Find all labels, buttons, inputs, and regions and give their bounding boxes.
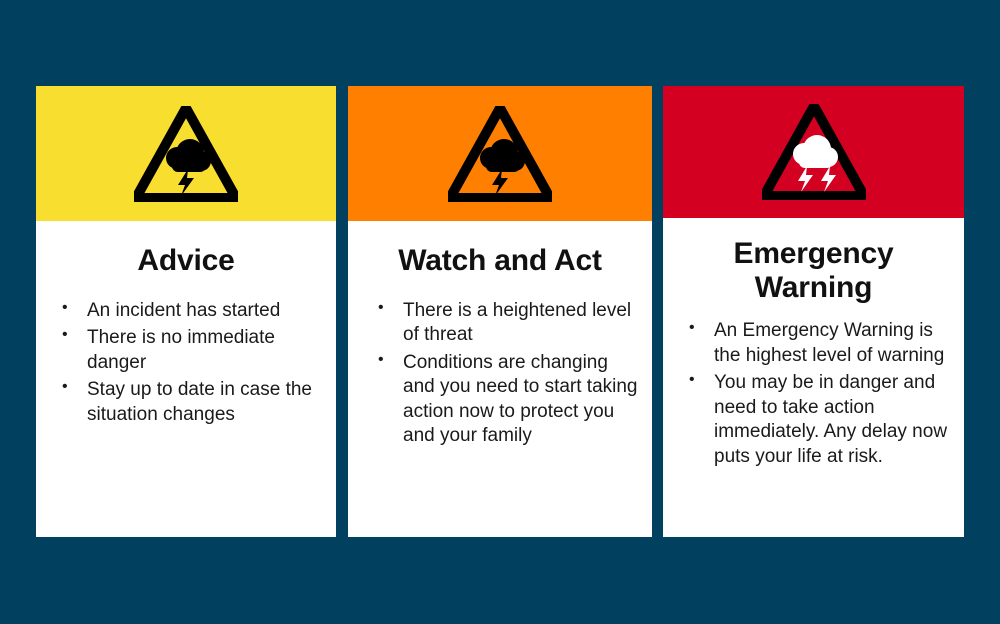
storm-warning-triangle-icon <box>762 104 866 200</box>
list-item: Stay up to date in case the situation ch… <box>60 378 326 427</box>
card-title-advice: Advice <box>36 221 336 278</box>
card-bullets-emergency-warning: An Emergency Warning is the highest leve… <box>663 319 964 472</box>
card-banner-advice <box>36 86 336 221</box>
card-banner-watch-and-act <box>348 86 652 221</box>
card-body-watch-and-act: Watch and Act There is a heightened leve… <box>348 221 652 537</box>
list-item: Conditions are changing and you need to … <box>376 351 642 449</box>
card-title-watch-and-act: Watch and Act <box>348 221 652 278</box>
list-item: An Emergency Warning is the highest leve… <box>687 319 956 368</box>
list-item: An incident has started <box>60 299 326 324</box>
warning-card-emergency-warning: Emergency Warning An Emergency Warning i… <box>663 86 964 537</box>
list-item: There is a heightened level of threat <box>376 299 642 348</box>
card-banner-emergency-warning <box>663 86 964 218</box>
card-body-advice: Advice An incident has started There is … <box>36 221 336 537</box>
storm-warning-triangle-icon <box>448 106 552 202</box>
warning-card-advice: Advice An incident has started There is … <box>36 86 336 537</box>
list-item: You may be in danger and need to take ac… <box>687 371 956 469</box>
warning-card-watch-and-act: Watch and Act There is a heightened leve… <box>348 86 652 537</box>
card-bullets-advice: An incident has started There is no imme… <box>36 299 336 431</box>
storm-warning-triangle-icon <box>134 106 238 202</box>
card-bullets-watch-and-act: There is a heightened level of threat Co… <box>348 299 652 452</box>
list-item: There is no immediate danger <box>60 326 326 375</box>
card-body-emergency-warning: Emergency Warning An Emergency Warning i… <box>663 218 964 537</box>
card-title-emergency-warning: Emergency Warning <box>663 218 964 304</box>
warning-levels-slide: Advice An incident has started There is … <box>0 0 1000 624</box>
